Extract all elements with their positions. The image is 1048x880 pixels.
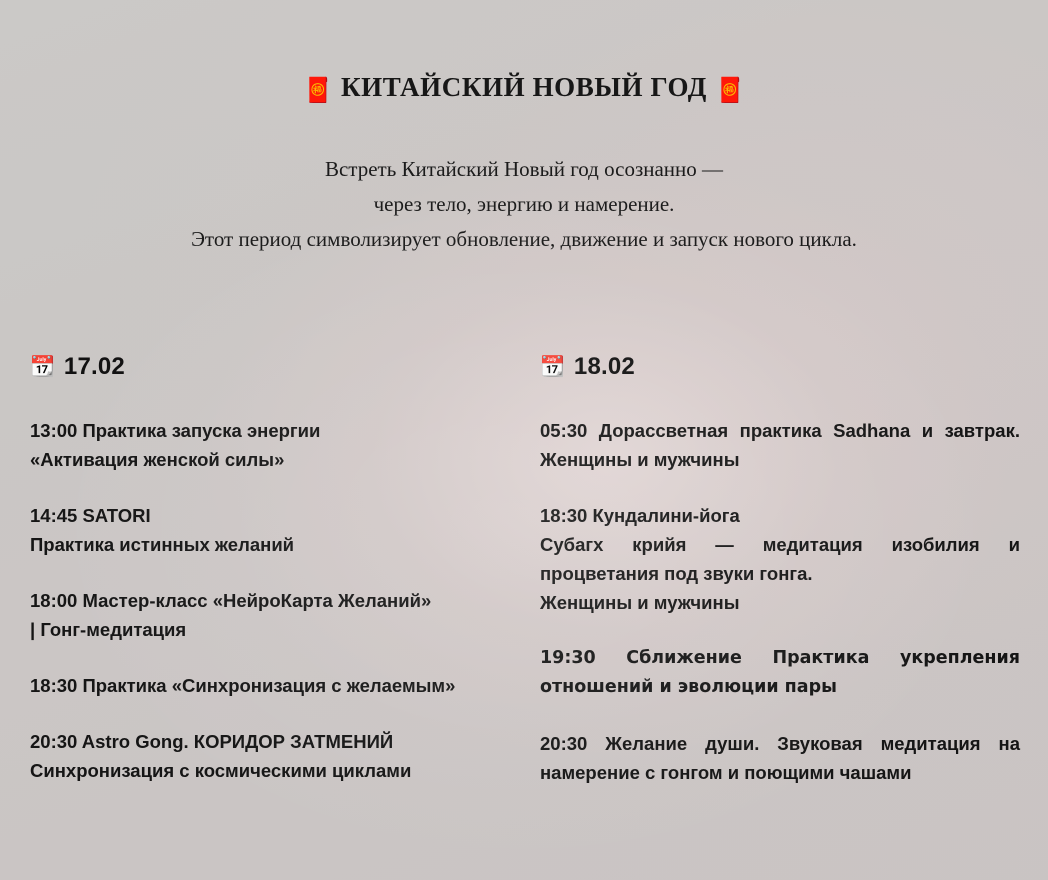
- event-item: 18:30 Кундалини-йога Субагх крийя — меди…: [540, 501, 1020, 617]
- schedule-column-day-1: 📆 17.02 13:00 Практика запуска энергии «…: [0, 352, 540, 787]
- event-line: | Гонг-медитация: [30, 615, 524, 644]
- event-line: 18:30 Кундалини-йога: [540, 501, 1020, 530]
- poster-subtitle: Встреть Китайский Новый год осознанно — …: [0, 152, 1048, 257]
- page-title-text: КИТАЙСКИЙ НОВЫЙ ГОД: [341, 72, 707, 102]
- event-item: 20:30 Желание души. Звуковая медитация н…: [540, 729, 1020, 787]
- day-date-2: 18.02: [574, 353, 635, 381]
- event-line: 20:30 Желание души. Звуковая медитация н…: [540, 733, 1020, 783]
- event-item: 14:45 SATORI Практика истинных желаний: [30, 501, 524, 559]
- day-header-1: 📆 17.02: [30, 352, 524, 382]
- page-title: 🧧КИТАЙСКИЙ НОВЫЙ ГОД🧧: [295, 72, 753, 105]
- calendar-icon: 📆: [30, 357, 55, 377]
- event-line: 13:00 Практика запуска энергии: [30, 416, 524, 445]
- red-envelope-icon-right: 🧧: [715, 78, 745, 104]
- red-envelope-icon-left: 🧧: [303, 78, 333, 104]
- event-item: 13:00 Практика запуска энергии «Активаци…: [30, 416, 524, 474]
- event-item: 19:30 Сближение Практика укрепления отно…: [540, 644, 1020, 702]
- schedule-column-day-2: 📆 18.02 05:30 Дорассветная практика Sadh…: [540, 352, 1048, 787]
- event-line: 05:30 Дорассветная практика Sadhana и за…: [540, 420, 1020, 470]
- event-item: 18:30 Практика «Синхронизация с желаемым…: [30, 671, 524, 700]
- event-item: 18:00 Мастер-класс «НейроКарта Желаний» …: [30, 586, 524, 644]
- subtitle-line-3: Этот период символизирует обновление, дв…: [0, 222, 1048, 257]
- event-line: 20:30 Astro Gong. КОРИДОР ЗАТМЕНИЙ: [30, 727, 524, 756]
- event-line: Практика истинных желаний: [30, 530, 524, 559]
- event-item: 05:30 Дорассветная практика Sadhana и за…: [540, 416, 1020, 474]
- event-line: 19:30 Сближение Практика укрепления отно…: [540, 648, 1020, 697]
- subtitle-line-1: Встреть Китайский Новый год осознанно —: [0, 152, 1048, 187]
- event-line: «Активация женской силы»: [30, 445, 524, 474]
- event-item: 20:30 Astro Gong. КОРИДОР ЗАТМЕНИЙ Синхр…: [30, 727, 524, 785]
- schedule-columns: 📆 17.02 13:00 Практика запуска энергии «…: [0, 352, 1048, 787]
- event-line: 18:30 Практика «Синхронизация с желаемым…: [30, 671, 524, 700]
- calendar-icon: 📆: [540, 357, 565, 377]
- event-line: 14:45 SATORI: [30, 501, 524, 530]
- event-line: Синхронизация с космическими циклами: [30, 756, 524, 785]
- event-line: Женщины и мужчины: [540, 588, 1020, 617]
- event-line: Субагх крийя — медитация изобилия и проц…: [540, 534, 1020, 584]
- subtitle-line-2: через тело, энергию и намерение.: [0, 187, 1048, 222]
- poster-header: 🧧КИТАЙСКИЙ НОВЫЙ ГОД🧧: [0, 72, 1048, 105]
- event-line: 18:00 Мастер-класс «НейроКарта Желаний»: [30, 586, 524, 615]
- day-header-2: 📆 18.02: [540, 352, 1020, 382]
- poster-canvas: 🧧КИТАЙСКИЙ НОВЫЙ ГОД🧧 Встреть Китайский …: [0, 0, 1048, 880]
- day-date-1: 17.02: [64, 353, 125, 381]
